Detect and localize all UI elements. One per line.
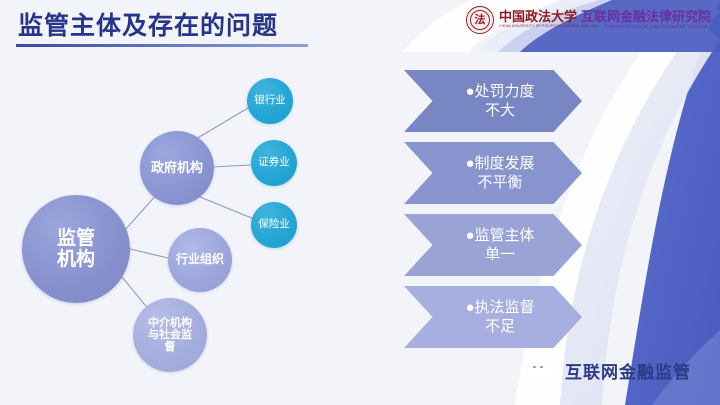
connector-gov-securities [212, 165, 251, 167]
logo-university-name-en: CHINA UNIVERSITY OF POLITICAL SCIENCE AN… [499, 25, 598, 30]
regulator-diagram: 监管 机构 政府机构 行业组织 中介机构 与社会监 督 银行业 证券业 保险业 [0, 55, 390, 385]
problem-line-2: 不足 [485, 317, 515, 336]
problem-line-1: ●监管主体 [465, 226, 534, 245]
page-title: 监管主体及存在的问题 [18, 6, 278, 42]
logo-line-en: CHINA UNIVERSITY OF POLITICAL SCIENCE AN… [499, 25, 711, 30]
connector-root-industry [130, 249, 168, 258]
connector-gov-insurance [200, 197, 254, 219]
problem-line-2: 单一 [485, 245, 515, 264]
problem-chevron-4[interactable]: ●执法监督 不足 [404, 286, 582, 348]
problem-chevron-2[interactable]: ●制度发展 不平衡 [404, 142, 582, 204]
title-underline [16, 44, 308, 47]
problem-line-2: 不大 [485, 101, 515, 120]
problem-list: ●处罚力度 不大 ●制度发展 不平衡 ●监管主体 单一 ●执法监督 不足 [404, 70, 584, 380]
node-label: 行业组织 [176, 253, 224, 266]
logo-institute-name-en: Internet Financial Law Research Institut… [605, 25, 708, 30]
logo-text-block: 中国政法大学 互联网金融法律研究院 CHINA UNIVERSITY OF PO… [499, 10, 711, 30]
node-industry-organization[interactable]: 行业组织 [168, 228, 232, 292]
logo-university-name: 中国政法大学 [499, 10, 577, 24]
node-intermediary-social-supervision[interactable]: 中介机构 与社会监 督 [133, 298, 207, 372]
seal-glyph: 法 [467, 7, 493, 33]
problem-line-2: 不平衡 [477, 173, 522, 192]
node-securities-industry[interactable]: 证券业 [251, 140, 297, 186]
institute-logo: 法 中国政法大学 互联网金融法律研究院 CHINA UNIVERSITY OF … [466, 6, 711, 34]
university-seal-icon: 法 [466, 6, 494, 34]
node-label: 监管 机构 [57, 228, 95, 271]
watermark-label: 互联网金融监管 [565, 358, 691, 383]
node-label: 保险业 [258, 219, 290, 231]
problem-chevron-3[interactable]: ●监管主体 单一 [404, 214, 582, 276]
connector-gov-bank [196, 105, 253, 139]
wechat-watermark: 互联网金融监管 [528, 358, 691, 383]
wechat-icon [528, 361, 558, 381]
problem-chevron-1[interactable]: ●处罚力度 不大 [404, 70, 582, 132]
node-label: 政府机构 [151, 161, 203, 176]
slide-canvas: 监管主体及存在的问题 法 中国政法大学 互联网金融法律研究院 CHINA UNI… [0, 0, 720, 405]
connector-root-gov [124, 193, 158, 231]
node-label: 银行业 [254, 95, 286, 107]
slide-header: 监管主体及存在的问题 法 中国政法大学 互联网金融法律研究院 CHINA UNI… [0, 0, 720, 48]
node-regulatory-agency[interactable]: 监管 机构 [22, 195, 130, 303]
logo-institute-name: 互联网金融法律研究院 [581, 10, 711, 24]
problem-line-1: ●制度发展 [465, 154, 534, 173]
node-insurance-industry[interactable]: 保险业 [251, 202, 297, 248]
node-government-agency[interactable]: 政府机构 [140, 131, 214, 205]
node-label: 中介机构 与社会监 督 [148, 317, 192, 354]
node-banking-industry[interactable]: 银行业 [247, 78, 293, 124]
problem-line-1: ●处罚力度 [465, 82, 534, 101]
logo-line-cn: 中国政法大学 互联网金融法律研究院 [499, 10, 711, 24]
problem-line-1: ●执法监督 [465, 298, 534, 317]
node-label: 证券业 [258, 157, 290, 169]
